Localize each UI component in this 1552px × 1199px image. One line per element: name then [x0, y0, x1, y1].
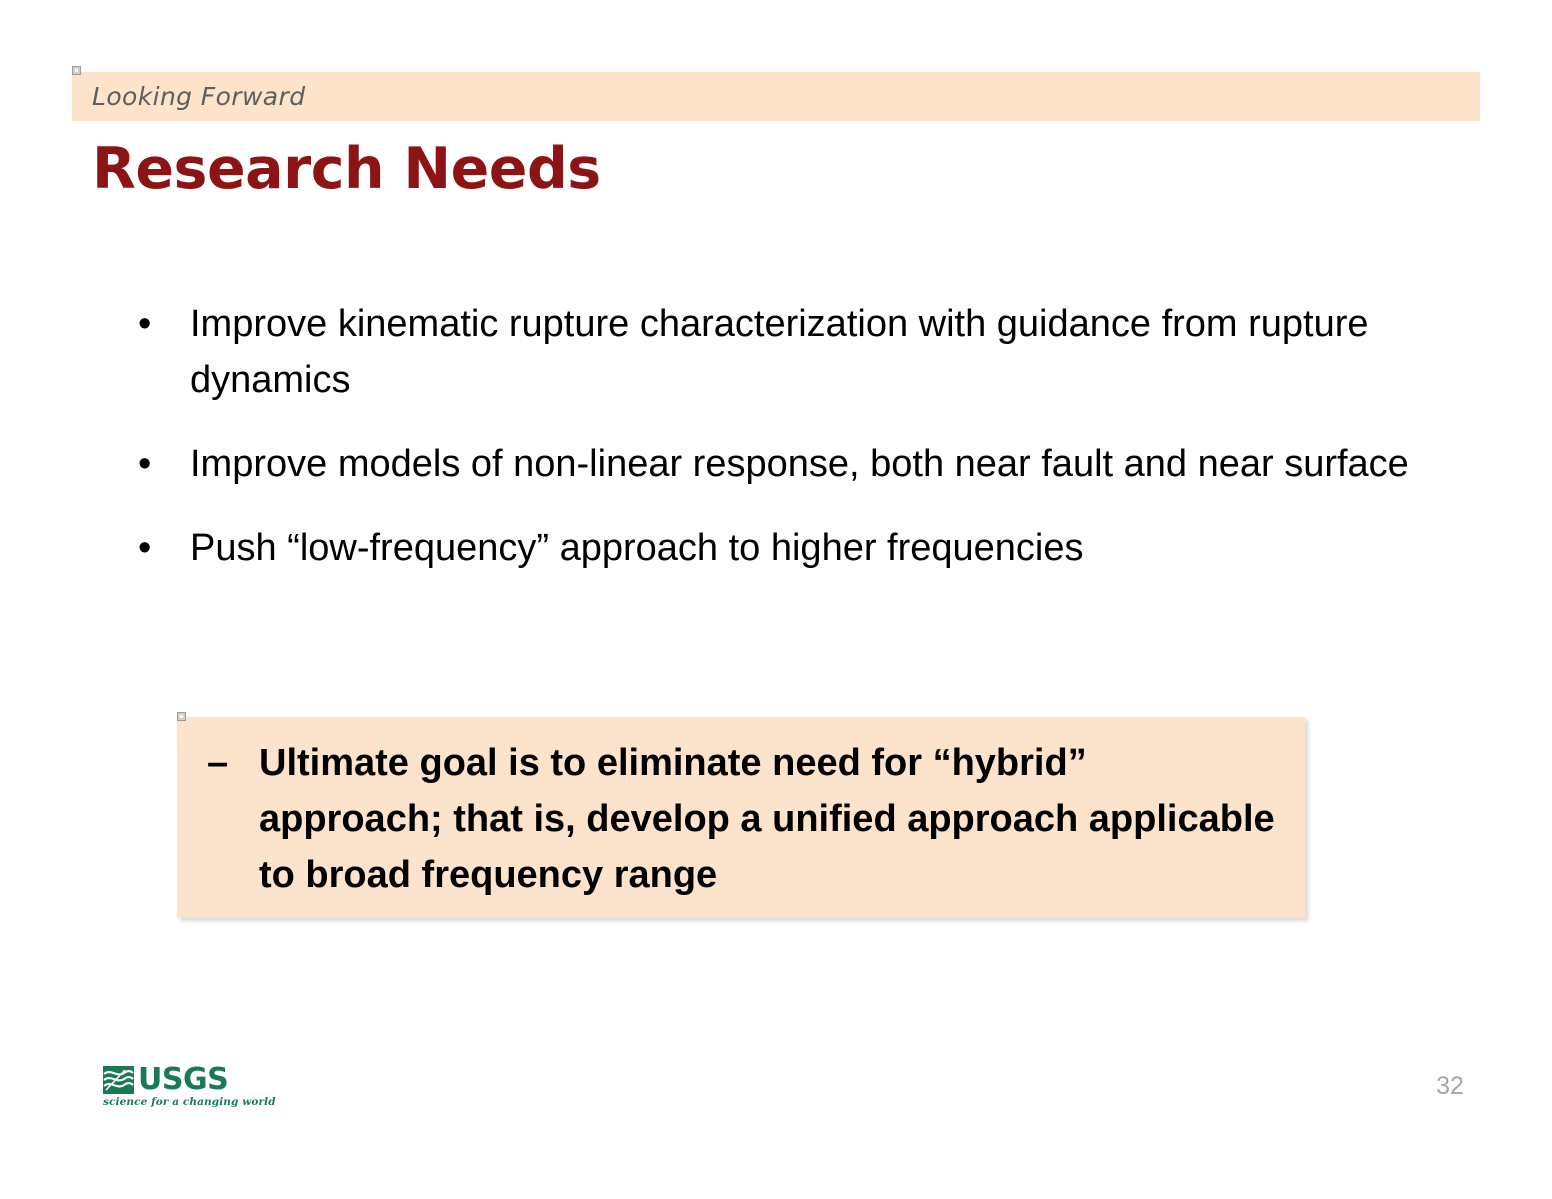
section-header-label: Looking Forward — [92, 81, 305, 110]
bullet-text: Improve models of non-linear response, b… — [190, 436, 1448, 492]
page-number: 32 — [1420, 1072, 1480, 1101]
usgs-logo: USGS science for a changing world — [103, 1066, 273, 1110]
usgs-tagline: science for a changing world — [103, 1096, 273, 1108]
usgs-wordmark: USGS — [138, 1066, 228, 1094]
page-title: Research Needs — [92, 140, 601, 200]
section-header-band: Looking Forward — [72, 72, 1480, 121]
bullet-list: • Improve kinematic rupture characteriza… — [138, 296, 1448, 604]
round-bullet-icon: • — [138, 520, 190, 576]
slide: Looking Forward Research Needs • Improve… — [0, 0, 1552, 1199]
callout-content: – Ultimate goal is to eliminate need for… — [177, 717, 1305, 903]
usgs-wave-mark-icon — [103, 1066, 134, 1094]
list-item: • Push “low-frequency” approach to highe… — [138, 520, 1448, 576]
list-item: • Improve models of non-linear response,… — [138, 436, 1448, 492]
header-band-handle-marker[interactable] — [72, 66, 81, 75]
usgs-logo-row: USGS — [103, 1066, 273, 1094]
dash-bullet-icon: – — [207, 735, 259, 791]
callout-text: Ultimate goal is to eliminate need for “… — [259, 735, 1277, 903]
highlight-callout-box: – Ultimate goal is to eliminate need for… — [177, 717, 1305, 918]
list-item: • Improve kinematic rupture characteriza… — [138, 296, 1448, 408]
bullet-text: Push “low-frequency” approach to higher … — [190, 520, 1448, 576]
round-bullet-icon: • — [138, 436, 190, 492]
callout-box-handle-marker[interactable] — [177, 712, 186, 721]
round-bullet-icon: • — [138, 296, 190, 352]
bullet-text: Improve kinematic rupture characterizati… — [190, 296, 1448, 408]
